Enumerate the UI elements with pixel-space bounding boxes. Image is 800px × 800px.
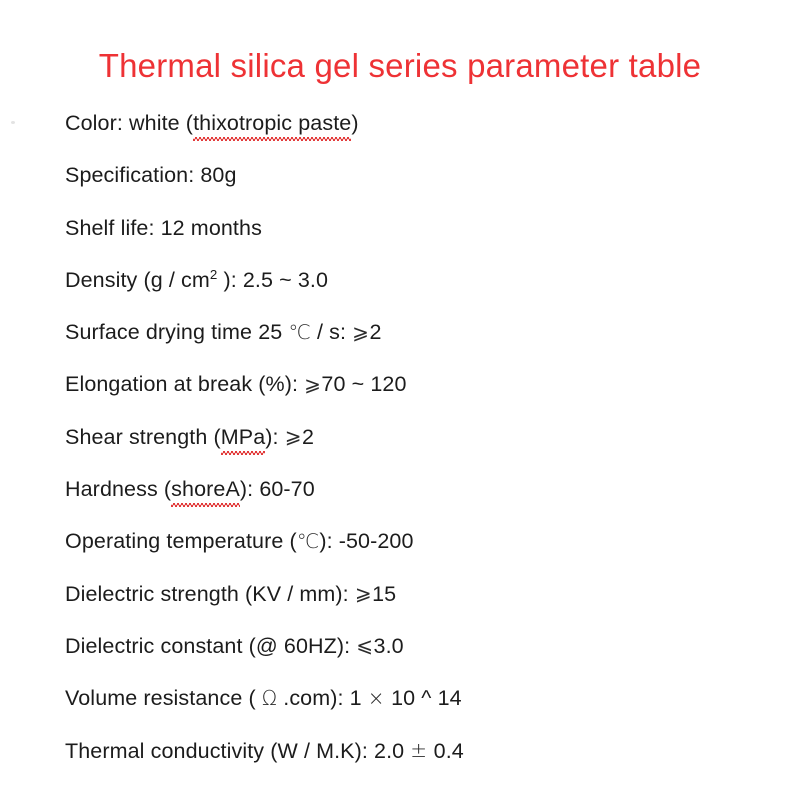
- param-label-operating-temp-post: ):: [319, 529, 338, 553]
- param-value-elongation: 70 ~ 120: [321, 372, 406, 396]
- param-label-operating-temp-pre: Operating temperature (: [65, 529, 297, 553]
- param-label-elongation: Elongation at break (%):: [65, 372, 304, 396]
- param-label-thermal-conductivity: Thermal conductivity (W / M.K): 2.0: [65, 739, 410, 763]
- param-label-surface-drying-post: / s:: [311, 320, 352, 344]
- param-label-hardness-pre: Hardness (: [65, 477, 171, 501]
- param-row-elongation-at-break: Elongation at break (%): ⩾70 ~ 120: [65, 369, 765, 421]
- param-label-specification: Specification:: [65, 163, 194, 187]
- degree-celsius-symbol: ℃: [288, 320, 311, 344]
- param-value-thermal-conductivity: 0.4: [428, 739, 464, 763]
- param-label-dielectric-constant: Dielectric constant (@ 60HZ):: [65, 634, 356, 658]
- param-label-surface-drying-pre: Surface drying time 25: [65, 320, 288, 344]
- misspelled-shorea: shoreA: [171, 474, 240, 504]
- param-label-density-post: ):: [217, 268, 242, 292]
- param-label-shear-post: ):: [265, 425, 284, 449]
- page-title: Thermal silica gel series parameter tabl…: [0, 46, 800, 86]
- param-row-density: Density (g / cm2 ): 2.5 ~ 3.0: [65, 265, 765, 317]
- greater-or-equal-symbol: ⩾: [352, 320, 369, 344]
- param-value-color-prefix: white (: [123, 111, 193, 135]
- param-label-volume-resistance-pre: Volume resistance (: [65, 686, 262, 710]
- multiplication-symbol: ×: [368, 686, 385, 710]
- param-value-dielectric-constant: 3.0: [374, 634, 404, 658]
- misspelled-mpa: MPa: [221, 422, 266, 452]
- greater-or-equal-symbol: ⩾: [304, 372, 321, 396]
- param-label-color: Color:: [65, 111, 123, 135]
- parameter-list: Color: white (thixotropic paste) Specifi…: [65, 108, 765, 788]
- param-label-dielectric-strength: Dielectric strength (KV / mm):: [65, 582, 355, 606]
- param-label-shelf-life: Shelf life:: [65, 216, 155, 240]
- param-row-thermal-conductivity: Thermal conductivity (W / M.K): 2.0 ± 0.…: [65, 736, 765, 788]
- param-value-surface-drying: 2: [369, 320, 381, 344]
- param-row-shelf-life: Shelf life: 12 months: [65, 213, 765, 265]
- param-value-operating-temperature: -50-200: [339, 529, 414, 553]
- param-value-hardness: 60-70: [259, 477, 315, 501]
- param-value-shear-strength: 2: [302, 425, 314, 449]
- greater-or-equal-symbol: ⩾: [285, 424, 302, 448]
- param-label-shear-pre: Shear strength (: [65, 425, 221, 449]
- param-value-density: 2.5 ~ 3.0: [243, 268, 328, 292]
- param-row-hardness: Hardness (shoreA): 60-70: [65, 474, 765, 526]
- param-row-volume-resistance: Volume resistance ( Ω .com): 1 × 10 ^ 14: [65, 683, 765, 735]
- param-row-color: Color: white (thixotropic paste): [65, 108, 765, 160]
- param-label-volume-resistance-post: .com): 1: [277, 686, 368, 710]
- greater-or-equal-symbol: ⩾: [355, 581, 372, 605]
- param-value-color-suffix: ): [351, 111, 358, 135]
- param-label-density-pre: Density (g / cm: [65, 268, 210, 292]
- param-label-hardness-post: ):: [240, 477, 259, 501]
- param-row-dielectric-strength: Dielectric strength (KV / mm): ⩾15: [65, 579, 765, 631]
- misspelled-thixotropic-paste: thixotropic paste: [193, 108, 351, 138]
- ohm-symbol: Ω: [262, 686, 277, 710]
- scan-artifact-speck: [11, 121, 15, 124]
- param-row-specification: Specification: 80g: [65, 160, 765, 212]
- param-row-operating-temperature: Operating temperature (℃): -50-200: [65, 526, 765, 578]
- document-page: Thermal silica gel series parameter tabl…: [0, 0, 800, 800]
- param-value-shelf-life: 12 months: [155, 216, 262, 240]
- param-row-surface-drying-time: Surface drying time 25 ℃ / s: ⩾2: [65, 317, 765, 369]
- param-value-volume-resistance: 10 ^ 14: [385, 686, 462, 710]
- param-value-specification: 80g: [194, 163, 236, 187]
- param-row-shear-strength: Shear strength (MPa): ⩾2: [65, 422, 765, 474]
- param-value-dielectric-strength: 15: [372, 582, 396, 606]
- plus-minus-symbol: ±: [410, 738, 427, 762]
- degree-celsius-symbol: ℃: [297, 529, 320, 553]
- less-or-equal-symbol: ⩽: [356, 633, 373, 657]
- param-row-dielectric-constant: Dielectric constant (@ 60HZ): ⩽3.0: [65, 631, 765, 683]
